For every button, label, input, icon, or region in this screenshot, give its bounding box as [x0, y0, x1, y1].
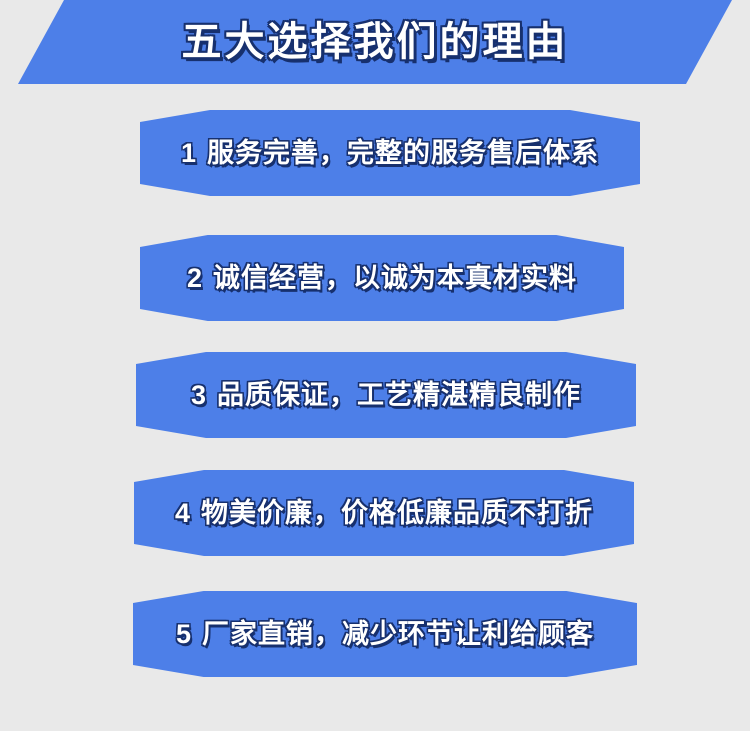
header-corner-left [0, 0, 18, 84]
reason-number-2: 2 [187, 265, 203, 292]
reason-number-1: 1 [181, 140, 197, 167]
reason-item-1: 1 服务完善，完整的服务售后体系 [140, 110, 640, 196]
reason-text-5: 厂家直销，减少环节让利给顾客 [202, 621, 594, 648]
reason-text-4: 物美价廉，价格低廉品质不打折 [201, 500, 593, 527]
reason-item-5: 5 厂家直销，减少环节让利给顾客 [133, 591, 637, 677]
promo-banner: 五大选择我们的理由 1 服务完善，完整的服务售后体系 2 诚信经营，以诚为本真材… [0, 0, 750, 731]
reason-item-2: 2 诚信经营，以诚为本真材实料 [140, 235, 624, 321]
header-notch-right [686, 0, 732, 84]
reason-list: 1 服务完善，完整的服务售后体系 2 诚信经营，以诚为本真材实料 3 品质保证，… [0, 84, 750, 731]
reason-number-4: 4 [175, 500, 191, 527]
banner-header: 五大选择我们的理由 [0, 0, 750, 84]
header-corner-right [732, 0, 750, 84]
reason-text-2: 诚信经营，以诚为本真材实料 [213, 265, 577, 292]
reason-text-1: 服务完善，完整的服务售后体系 [207, 140, 599, 167]
reason-number-5: 5 [176, 621, 192, 648]
reason-number-3: 3 [191, 382, 207, 409]
reason-item-4: 4 物美价廉，价格低廉品质不打折 [134, 470, 634, 556]
header-notch-left [18, 0, 64, 84]
page-title: 五大选择我们的理由 [182, 22, 569, 62]
reason-text-3: 品质保证，工艺精湛精良制作 [217, 382, 581, 409]
reason-item-3: 3 品质保证，工艺精湛精良制作 [136, 352, 636, 438]
